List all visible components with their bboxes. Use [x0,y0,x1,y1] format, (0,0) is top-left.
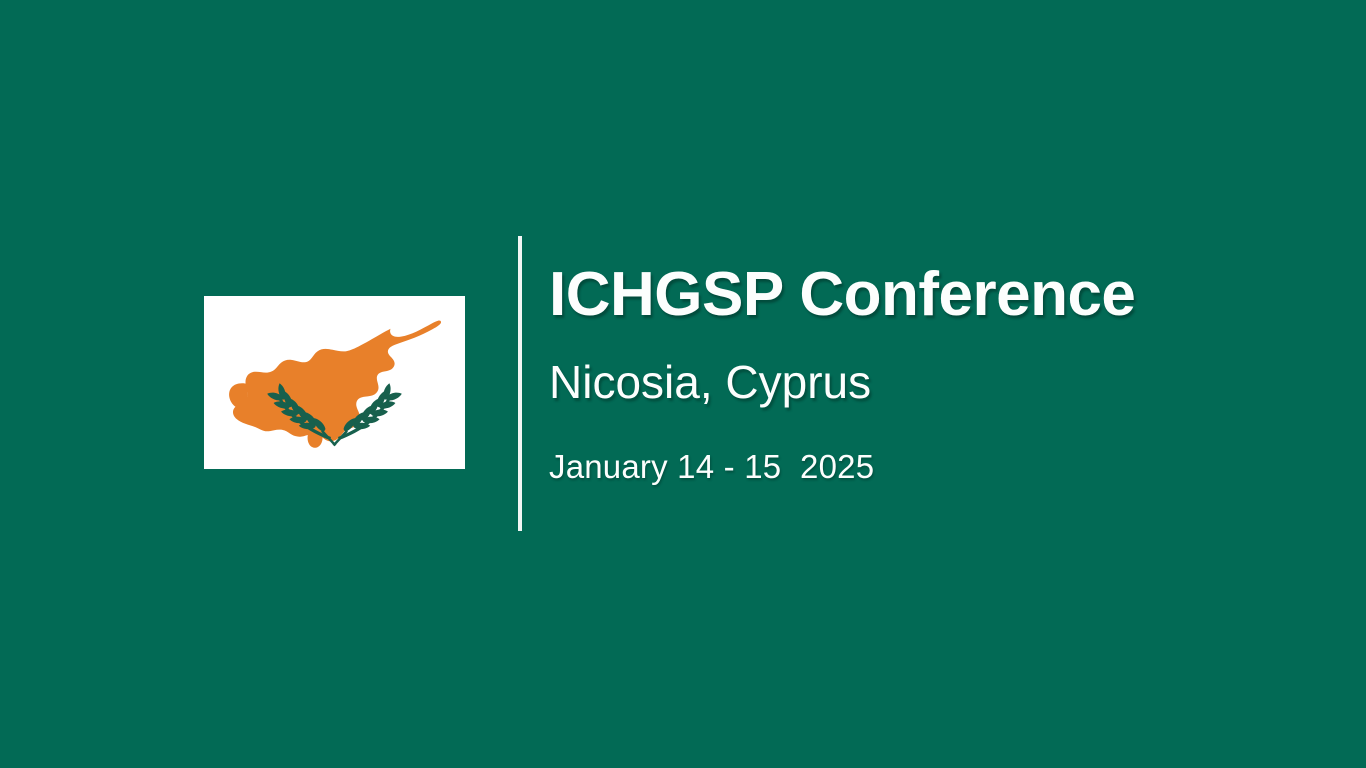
cyprus-flag [204,296,465,469]
heading-text-block: ICHGSP Conference Nicosia, Cyprus Januar… [549,236,1309,536]
vertical-rule-divider [518,236,522,531]
conference-dates: January 14 - 15 2025 [549,450,874,483]
conference-title: ICHGSP Conference [549,264,1135,326]
slide-canvas: ICHGSP Conference Nicosia, Cyprus Januar… [0,0,1366,768]
conference-location: Nicosia, Cyprus [549,359,871,405]
cyprus-flag-svg [204,296,465,469]
